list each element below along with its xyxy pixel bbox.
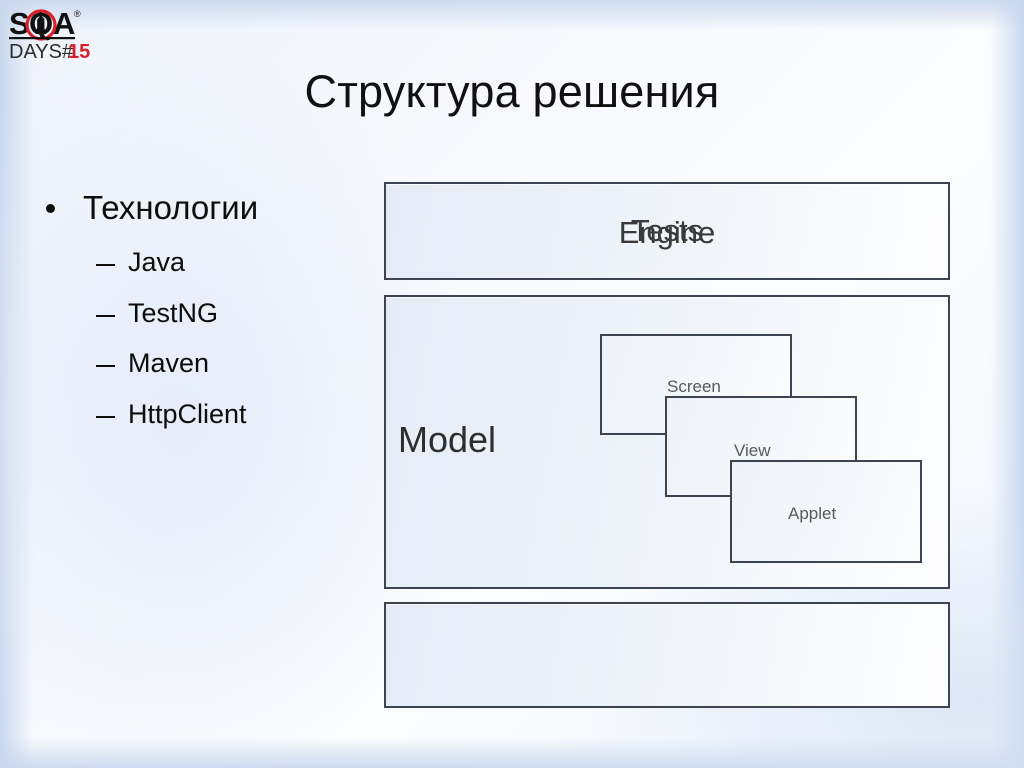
- technologies-list: Технологии Java TestNG Maven HttpClient: [36, 190, 366, 430]
- diagram-pane-view-label: View: [734, 441, 771, 461]
- diagram-layer-model-label: Model: [398, 419, 496, 461]
- dash-icon: [96, 315, 115, 317]
- list-item-label: Технологии: [83, 189, 258, 226]
- list-item-technologies: Технологии: [36, 190, 366, 227]
- sqa-days-logo: S Q A ® DAYS# 15: [8, 6, 116, 62]
- architecture-diagram: Tests Model Screen View Applet Engine: [384, 182, 950, 708]
- svg-text:®: ®: [74, 9, 81, 19]
- svg-text:15: 15: [68, 41, 90, 62]
- page-title: Структура решения: [0, 66, 1024, 118]
- list-item-testng: TestNG: [36, 299, 366, 329]
- diagram-pane-screen-label: Screen: [667, 377, 721, 397]
- dash-icon: [96, 365, 115, 367]
- dash-icon: [96, 416, 115, 418]
- diagram-layer-engine: [384, 602, 950, 708]
- list-item-label: Java: [128, 247, 185, 277]
- list-item-java: Java: [36, 248, 366, 278]
- list-item-httpclient: HttpClient: [36, 400, 366, 430]
- bullet-dot-icon: [46, 204, 55, 213]
- list-item-label: TestNG: [128, 298, 218, 328]
- diagram-pane-applet-label: Applet: [788, 504, 836, 524]
- list-item-maven: Maven: [36, 349, 366, 379]
- diagram-layer-engine-label: Engine: [384, 215, 950, 251]
- svg-text:DAYS#: DAYS#: [9, 41, 74, 62]
- slide-canvas: S Q A ® DAYS# 15 Структура решения Техно…: [0, 0, 1024, 768]
- sqa-days-logo-icon: S Q A ® DAYS# 15: [8, 6, 116, 62]
- dash-icon: [96, 264, 115, 266]
- list-item-label: HttpClient: [128, 399, 247, 429]
- list-item-label: Maven: [128, 348, 209, 378]
